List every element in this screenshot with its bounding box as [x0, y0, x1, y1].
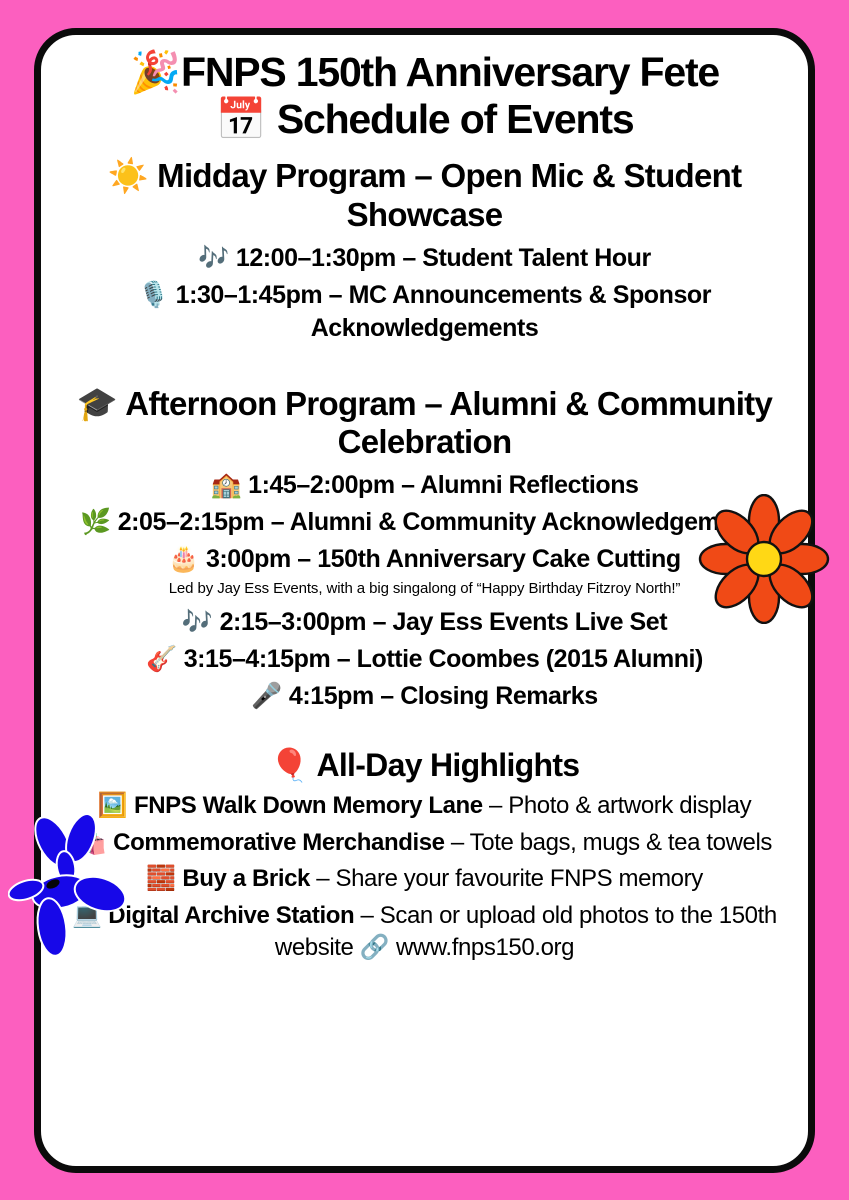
poster-content: 🎉FNPS 150th Anniversary Fete 📅 Schedule …: [41, 35, 808, 974]
section-heading-allday: 🎈 All-Day Highlights: [63, 747, 786, 785]
highlight-item: 🛍️ Commemorative Merchandise – Tote bags…: [63, 827, 786, 859]
highlight-desc: – Photo & artwork display: [483, 792, 751, 819]
birthday-cake-icon: 🎂: [168, 544, 199, 573]
framed-picture-icon: 🖼️: [98, 791, 128, 819]
microphone-icon: 🎤: [251, 681, 282, 710]
website-link[interactable]: www.fnps150.org: [396, 934, 574, 961]
event-line: 🎙️ 1:30–1:45pm – MC Announcements & Spon…: [63, 278, 786, 345]
balloon-icon: 🎈: [270, 746, 310, 784]
highlight-desc: – Share your favourite FNPS memory: [310, 865, 703, 892]
event-line: 🏫 1:45–2:00pm – Alumni Reflections: [63, 468, 786, 502]
event-text: 12:00–1:30pm – Student Talent Hour: [236, 244, 651, 272]
highlight-label: FNPS Walk Down Memory Lane: [134, 792, 483, 819]
school-icon: 🏫: [210, 470, 241, 499]
event-text: 2:15–3:00pm – Jay Ess Events Live Set: [220, 608, 668, 636]
section-heading-afternoon-text: Afternoon Program – Alumni & Community C…: [125, 385, 772, 461]
highlight-desc: – Tote bags, mugs & tea towels: [445, 829, 772, 856]
page-title-text: FNPS 150th Anniversary Fete: [181, 49, 719, 95]
highlight-label: Buy a Brick: [182, 865, 310, 892]
highlight-item: 🖼️ FNPS Walk Down Memory Lane – Photo & …: [63, 790, 786, 822]
event-line: 🎤 4:15pm – Closing Remarks: [63, 679, 786, 713]
event-text: 1:45–2:00pm – Alumni Reflections: [248, 471, 638, 499]
party-popper-icon: 🎉: [130, 48, 181, 96]
section-heading-afternoon: 🎓 Afternoon Program – Alumni & Community…: [63, 385, 786, 463]
event-text: 4:15pm – Closing Remarks: [289, 682, 598, 710]
musical-notes-icon: 🎶: [198, 243, 229, 272]
page-title-line-1: 🎉FNPS 150th Anniversary Fete: [63, 49, 786, 95]
highlight-item: 🧱 Buy a Brick – Share your favourite FNP…: [63, 863, 786, 895]
event-text: 2:05–2:15pm – Alumni & Community Acknowl…: [118, 508, 769, 536]
sun-icon: ☀️: [108, 156, 149, 195]
highlight-item: 💻 Digital Archive Station – Scan or uplo…: [63, 900, 786, 964]
musical-notes-icon: 🎶: [182, 607, 213, 636]
brick-icon: 🧱: [146, 864, 176, 892]
event-line: 🌿 2:05–2:15pm – Alumni & Community Ackno…: [63, 505, 786, 539]
guitar-icon: 🎸: [146, 644, 177, 673]
page-title-line-2: 📅 Schedule of Events: [63, 96, 786, 142]
link-icon: 🔗: [360, 933, 390, 961]
highlight-label: Digital Archive Station: [108, 902, 354, 929]
poster-card: 🎉FNPS 150th Anniversary Fete 📅 Schedule …: [34, 28, 815, 1173]
shopping-bags-icon: 🛍️: [77, 828, 107, 856]
event-line: 🎶 2:15–3:00pm – Jay Ess Events Live Set: [63, 605, 786, 639]
studio-microphone-icon: 🎙️: [138, 280, 169, 309]
herb-icon: 🌿: [80, 507, 111, 536]
event-text: 1:30–1:45pm – MC Announcements & Sponsor…: [176, 281, 711, 342]
event-line: 🎶 12:00–1:30pm – Student Talent Hour: [63, 241, 786, 275]
event-text: 3:00pm – 150th Anniversary Cake Cutting: [206, 545, 681, 573]
highlight-label: Commemorative Merchandise: [113, 829, 444, 856]
laptop-icon: 💻: [72, 901, 102, 929]
event-line: 🎂 3:00pm – 150th Anniversary Cake Cuttin…: [63, 542, 786, 576]
calendar-icon: 📅: [216, 95, 267, 143]
section-heading-midday-text: Midday Program – Open Mic & Student Show…: [157, 157, 741, 233]
event-line: 🎸 3:15–4:15pm – Lottie Coombes (2015 Alu…: [63, 642, 786, 676]
event-note: Led by Jay Ess Events, with a big singal…: [63, 579, 786, 599]
section-heading-allday-text: All-Day Highlights: [316, 747, 579, 783]
section-heading-midday: ☀️ Midday Program – Open Mic & Student S…: [63, 157, 786, 235]
graduation-cap-icon: 🎓: [77, 384, 118, 423]
page-subtitle-text: Schedule of Events: [277, 96, 634, 142]
event-text: 3:15–4:15pm – Lottie Coombes (2015 Alumn…: [184, 645, 703, 673]
